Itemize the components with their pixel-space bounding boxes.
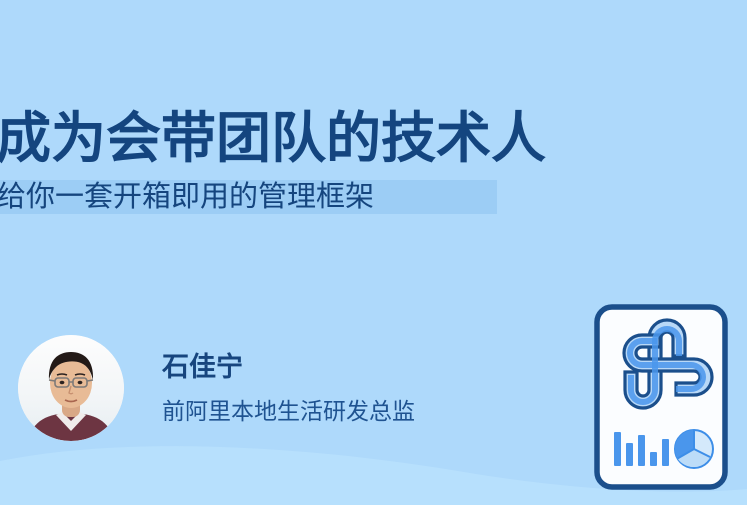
presenter-name: 石佳宁 (162, 351, 415, 383)
report-document-icon (594, 304, 728, 490)
report-card-icon (594, 304, 728, 490)
pie-chart-icon (675, 430, 713, 468)
presenter-role: 前阿里本地生活研发总监 (162, 397, 415, 425)
avatar-photo (18, 335, 124, 441)
presenter-block: 石佳宁 前阿里本地生活研发总监 (18, 335, 415, 441)
subtitle-row: 给你一套开箱即用的管理框架 (0, 178, 560, 216)
page-title: 成为会带团队的技术人 (0, 106, 560, 170)
avatar (18, 335, 124, 441)
page-subtitle: 给你一套开箱即用的管理框架 (0, 178, 560, 216)
title-block: 成为会带团队的技术人 给你一套开箱即用的管理框架 (0, 106, 560, 216)
presenter-text: 石佳宁 前阿里本地生活研发总监 (162, 351, 415, 425)
slide-canvas: 成为会带团队的技术人 给你一套开箱即用的管理框架 (0, 0, 747, 505)
